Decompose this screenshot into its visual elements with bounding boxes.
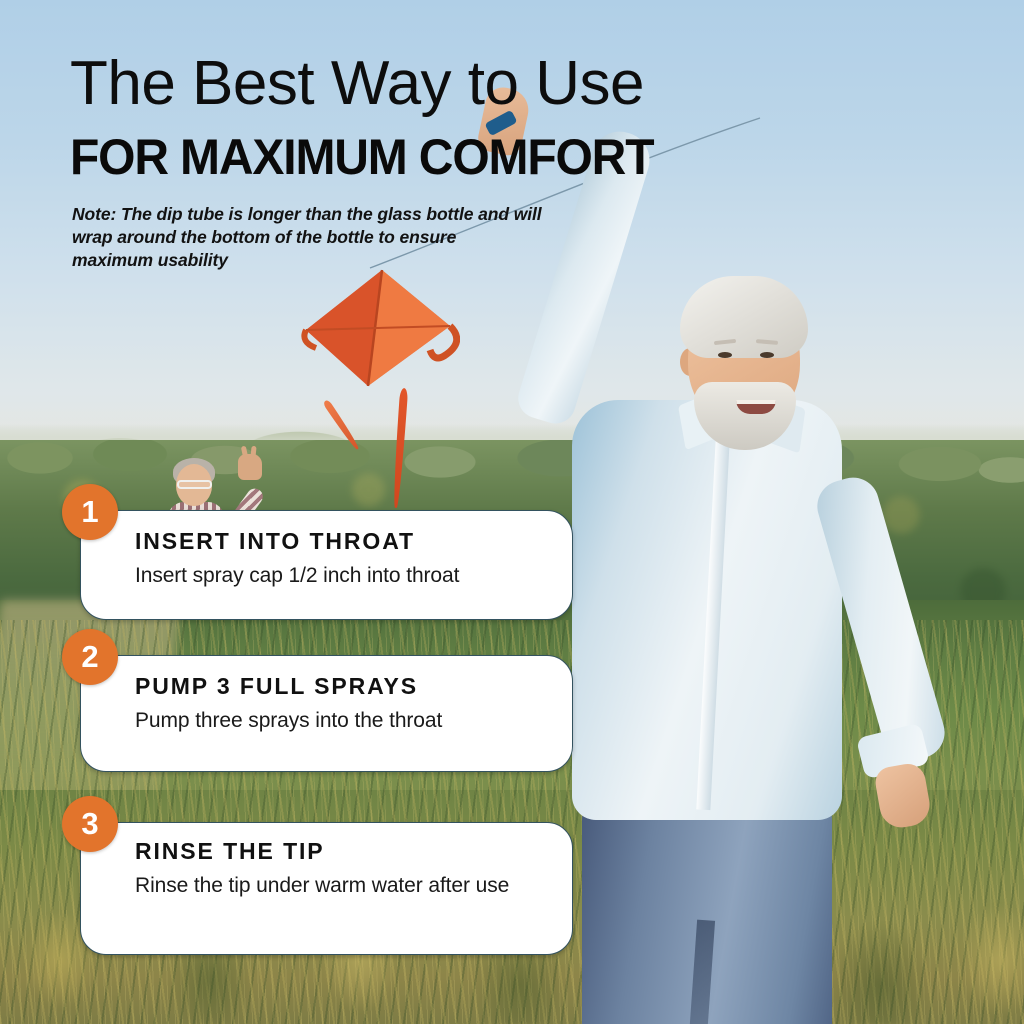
note-text: Note: The dip tube is longer than the gl… [72, 203, 542, 272]
step-title: PUMP 3 FULL SPRAYS [135, 674, 546, 699]
woman-hand [238, 454, 262, 480]
step-card-1[interactable]: INSERT INTO THROAT Insert spray cap 1/2 … [80, 510, 573, 620]
foreground-man [560, 100, 1024, 1024]
step-description: Insert spray cap 1/2 inch into throat [135, 563, 546, 589]
woman-glasses [177, 480, 212, 489]
step-card-2[interactable]: PUMP 3 FULL SPRAYS Pump three sprays int… [80, 655, 573, 772]
step-description: Pump three sprays into the throat [135, 708, 546, 734]
step-card-3[interactable]: RINSE THE TIP Rinse the tip under warm w… [80, 822, 573, 955]
step-title: INSERT INTO THROAT [135, 529, 546, 554]
man-eye-right [760, 352, 774, 358]
page-subtitle: FOR MAXIMUM COMFORT [70, 132, 800, 182]
step-description: Rinse the tip under warm water after use [135, 873, 546, 899]
step-title: RINSE THE TIP [135, 839, 546, 864]
step-number-badge-3: 3 [62, 796, 118, 852]
man-eye-left [718, 352, 732, 358]
man-hair [680, 276, 808, 358]
step-number-badge-2: 2 [62, 629, 118, 685]
orange-kite [300, 268, 480, 468]
page-title: The Best Way to Use [70, 52, 830, 115]
man-lowered-hand [873, 761, 933, 831]
step-number-badge-1: 1 [62, 484, 118, 540]
infographic-canvas: The Best Way to Use FOR MAXIMUM COMFORT … [0, 0, 1024, 1024]
